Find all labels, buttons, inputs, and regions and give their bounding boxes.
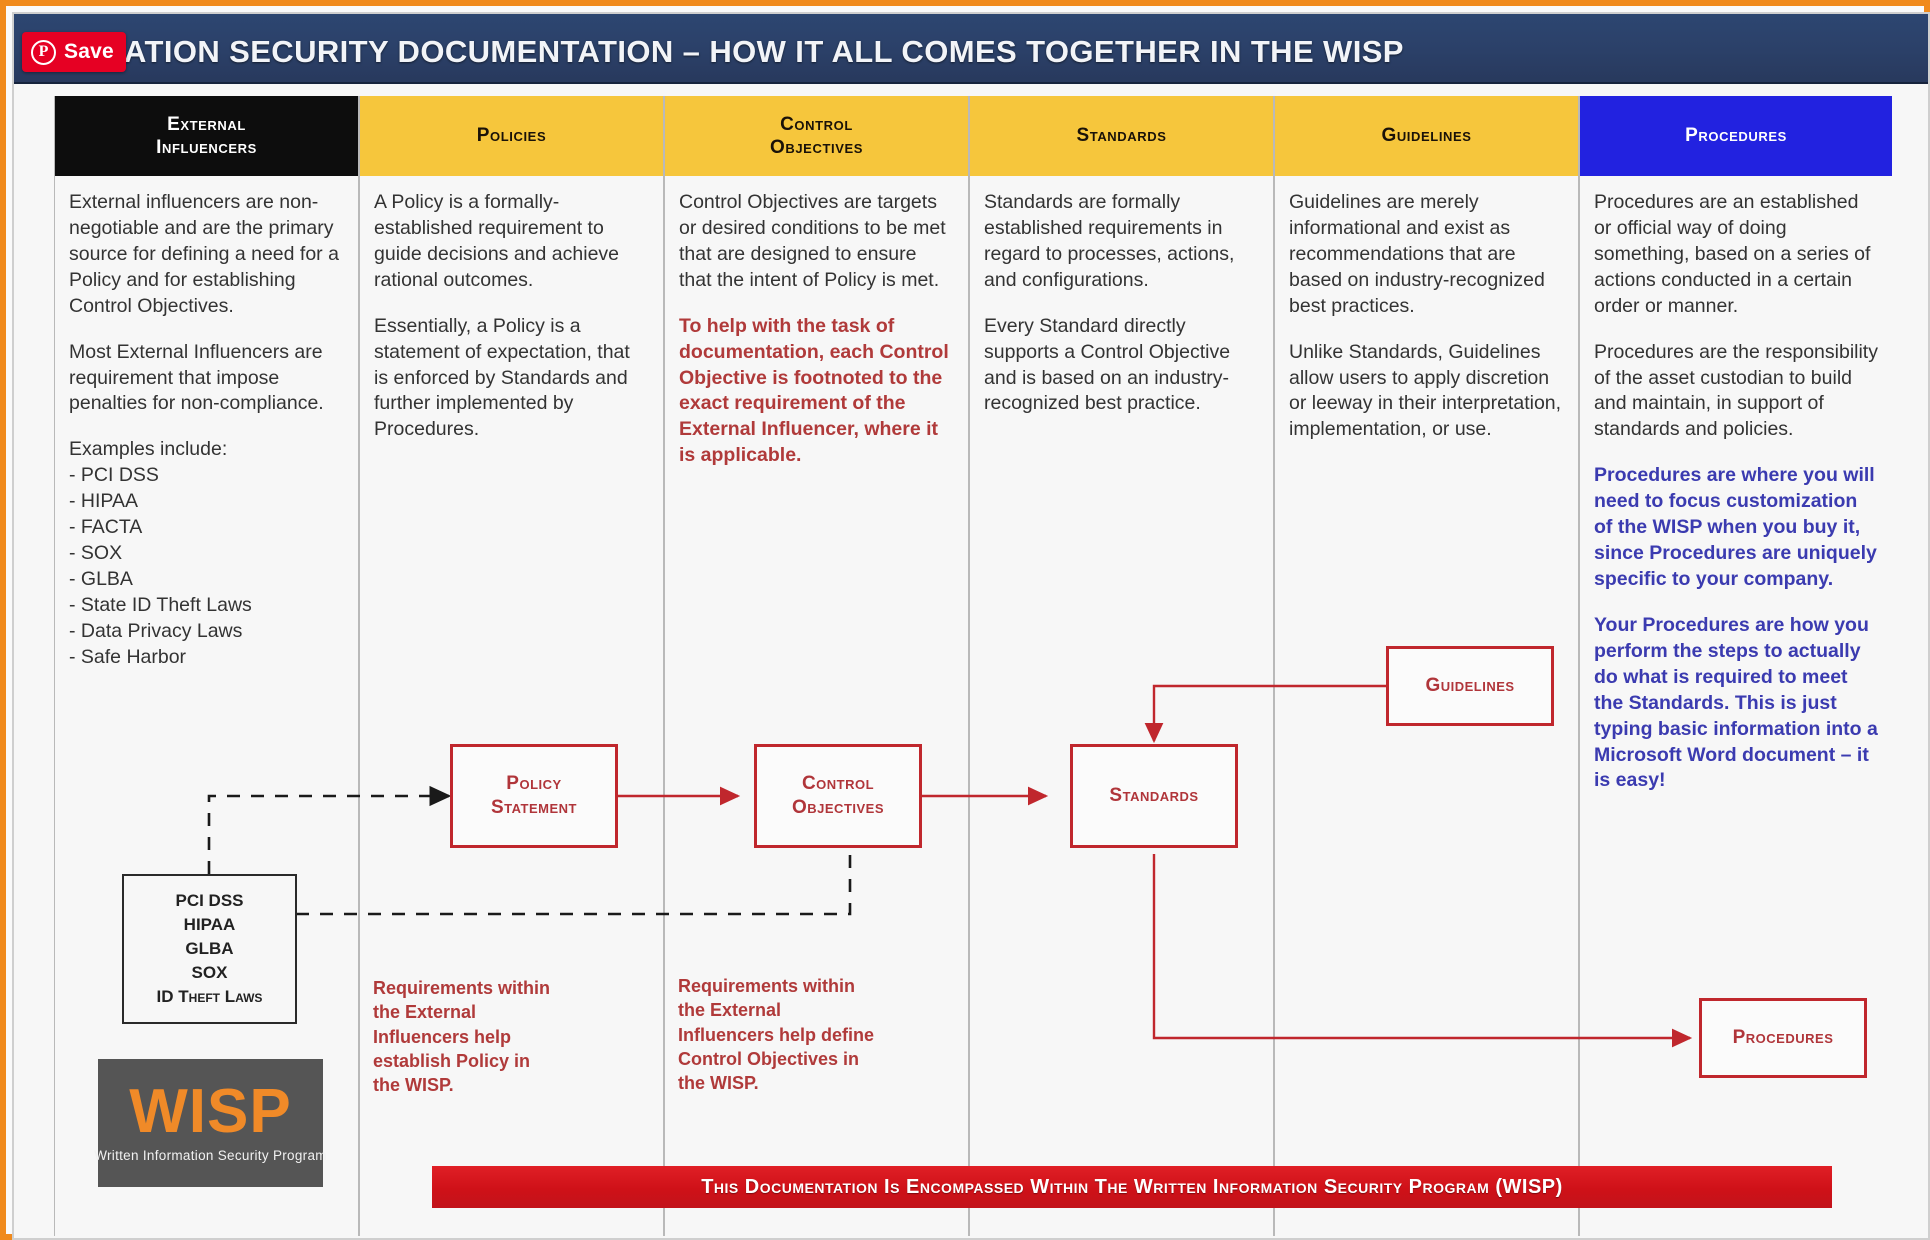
pinterest-save-button[interactable]: P Save (22, 32, 126, 72)
diagram-canvas: ATION SECURITY DOCUMENTATION – HOW IT AL… (12, 12, 1930, 1240)
ext-box-line: ID Theft Laws (157, 985, 263, 1009)
note-control-objectives: Requirements within the External Influen… (678, 974, 878, 1095)
wisp-logo-word: WISP (129, 1083, 291, 1142)
pinterest-icon: P (31, 40, 56, 65)
wisp-logo-subtitle: Written Information Security Program (94, 1148, 327, 1163)
title-bar: ATION SECURITY DOCUMENTATION – HOW IT AL… (14, 14, 1930, 84)
flow-box-procedures[interactable]: Procedures (1699, 998, 1867, 1078)
flow-box-guidelines[interactable]: Guidelines (1386, 646, 1554, 726)
ext-box-line: HIPAA (184, 913, 236, 937)
flow-connectors (54, 96, 1892, 1236)
ext-box-line: SOX (192, 961, 228, 985)
wisp-logo: WISP Written Information Security Progra… (98, 1059, 323, 1187)
footer-banner: This Documentation Is Encompassed Within… (432, 1166, 1832, 1208)
flow-box-standards[interactable]: Standards (1070, 744, 1238, 848)
flow-box-control-objectives[interactable]: Control Objectives (754, 744, 922, 848)
columns-grid: External Influencers External influencer… (54, 96, 1892, 1236)
flow-box-policy-statement[interactable]: Policy Statement (450, 744, 618, 848)
external-influencers-box: PCI DSS HIPAA GLBA SOX ID Theft Laws (122, 874, 297, 1024)
footer-banner-label: This Documentation Is Encompassed Within… (701, 1176, 1563, 1199)
ext-box-line: GLBA (185, 937, 233, 961)
page-frame: ATION SECURITY DOCUMENTATION – HOW IT AL… (0, 0, 1930, 1240)
note-policies: Requirements within the External Influen… (373, 976, 558, 1097)
page-title: ATION SECURITY DOCUMENTATION – HOW IT AL… (124, 34, 1404, 70)
pinterest-save-label: Save (64, 40, 114, 64)
ext-box-line: PCI DSS (175, 889, 243, 913)
